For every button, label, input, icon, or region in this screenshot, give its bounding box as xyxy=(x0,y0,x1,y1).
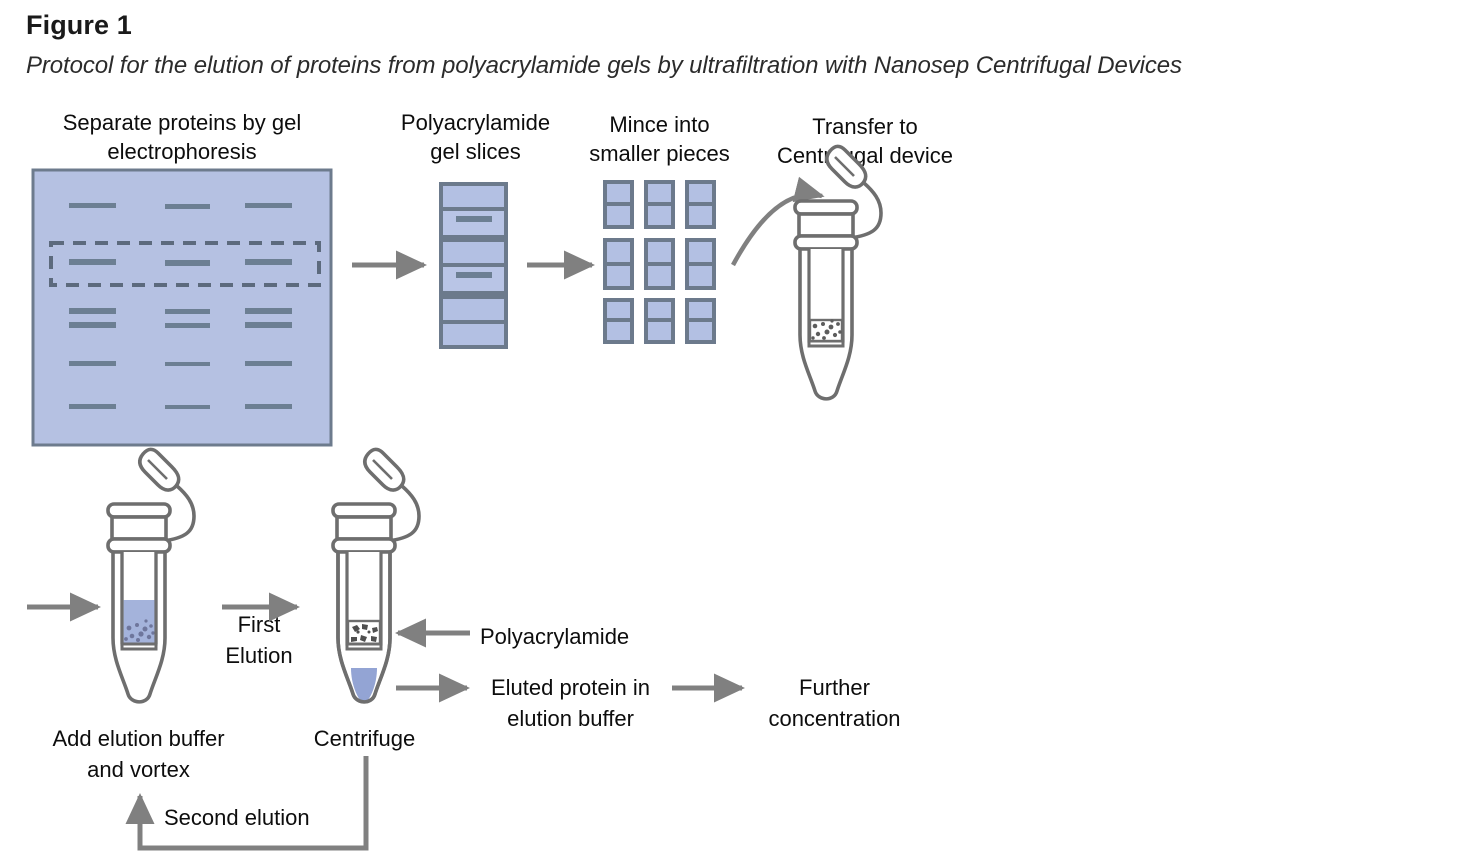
arrow-second-elution-loop xyxy=(140,756,366,848)
retained-polyacrylamide xyxy=(348,621,380,644)
minced-piece xyxy=(646,300,673,342)
tube-transfer xyxy=(795,146,881,399)
minced-piece xyxy=(646,182,673,227)
minced-piece xyxy=(687,182,714,227)
minced-piece xyxy=(605,300,632,342)
tube-centrifuged xyxy=(333,449,419,703)
gel-slices-group xyxy=(441,184,506,347)
minced-piece xyxy=(605,182,632,227)
minced-piece xyxy=(605,240,632,288)
minced-pieces-grid xyxy=(605,182,714,342)
tube-elution-buffer xyxy=(108,449,194,702)
diagram-illustration xyxy=(0,0,1479,865)
minced-piece xyxy=(687,240,714,288)
gel-slice xyxy=(441,297,506,347)
minced-piece xyxy=(687,300,714,342)
gel-slice xyxy=(441,184,506,237)
polyacrylamide-speckles xyxy=(810,319,842,341)
gel-slice xyxy=(441,240,506,293)
minced-piece xyxy=(646,240,673,288)
figure-container: Figure 1 Protocol for the elution of pro… xyxy=(0,0,1479,865)
gel-electrophoresis-panel xyxy=(33,170,331,445)
